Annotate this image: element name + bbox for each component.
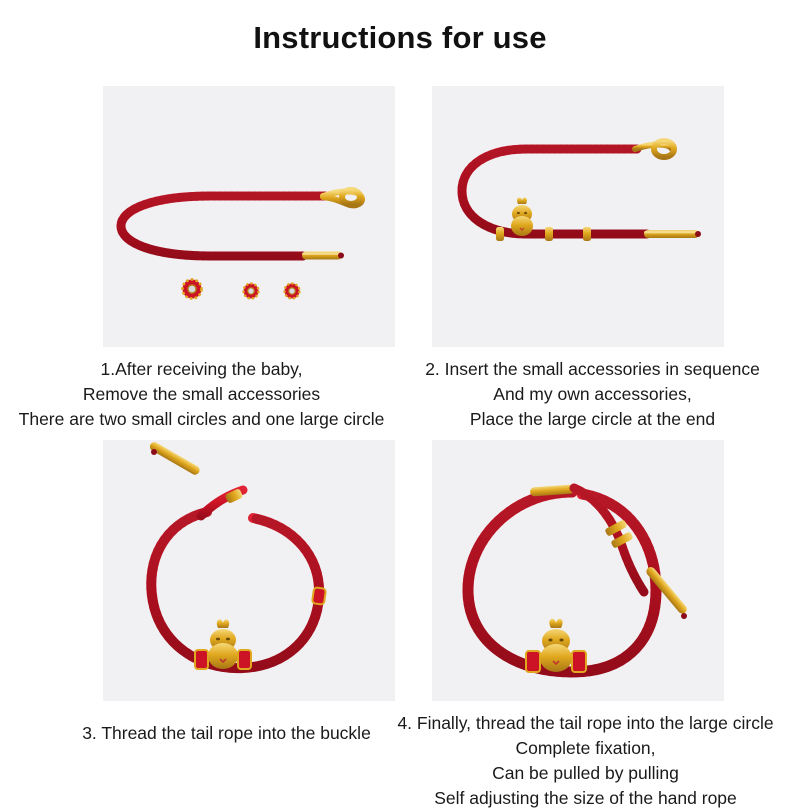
step-3-caption-line-1: 3. Thread the tail rope into the buckle <box>58 721 395 746</box>
gold-tube-end <box>302 252 344 260</box>
accessory-ring-on-cord-1 <box>496 227 504 241</box>
step-2-caption-line-3: Place the large circle at the end <box>405 407 780 432</box>
step-4-caption-line-3: Can be pulled by pulling <box>391 761 780 786</box>
step-1-caption: 1.After receiving the baby, Remove the s… <box>8 357 395 432</box>
step-1-photo <box>103 86 395 347</box>
step-1-caption-line-2: Remove the small accessories <box>8 382 395 407</box>
page-title: Instructions for use <box>0 20 800 56</box>
step-4-block: 4. Finally, thread the tail rope into th… <box>405 440 780 811</box>
step-2-block: 2. Insert the small accessories in seque… <box>405 86 780 432</box>
step-4-caption: 4. Finally, thread the tail rope into th… <box>391 711 780 811</box>
step-2-caption-line-2: And my own accessories, <box>405 382 780 407</box>
gold-loop-end <box>323 190 362 205</box>
step-1-caption-line-1: 1.After receiving the baby, <box>8 357 395 382</box>
rabbit-charm <box>526 619 586 672</box>
step-4-caption-line-2: Complete fixation, <box>391 736 780 761</box>
step-3-block: 3. Thread the tail rope into the buckle <box>20 440 395 746</box>
accessory-ring-small-2 <box>285 284 300 299</box>
rabbit-charm <box>511 197 533 236</box>
step-4-photo <box>432 440 724 701</box>
step-3-caption: 3. Thread the tail rope into the buckle <box>58 721 395 746</box>
gold-tube-end <box>644 230 701 238</box>
rabbit-charm <box>195 619 251 669</box>
accessory-ring-on-cord-3 <box>583 227 591 241</box>
instructions-page: Instructions for use <box>0 0 800 800</box>
step-4-caption-line-4: Self adjusting the size of the hand rope <box>391 786 780 811</box>
step-2-caption-line-1: 2. Insert the small accessories in seque… <box>405 357 780 382</box>
step-2-photo <box>432 86 724 347</box>
step-1-block: 1.After receiving the baby, Remove the s… <box>20 86 395 432</box>
red-cord <box>462 149 647 234</box>
step-4-caption-line-1: 4. Finally, thread the tail rope into th… <box>391 711 780 736</box>
step-2-caption: 2. Insert the small accessories in seque… <box>405 357 780 432</box>
step-3-photo <box>103 440 395 701</box>
gold-tube-tail <box>148 441 201 477</box>
accessory-ring-small-1 <box>244 284 259 299</box>
step-1-caption-line-3: There are two small circles and one larg… <box>8 407 395 432</box>
adjust-ring <box>312 587 326 605</box>
accessory-ring-large <box>183 280 202 299</box>
gold-loop-end <box>635 141 674 157</box>
accessory-ring-on-cord-2 <box>545 227 553 241</box>
